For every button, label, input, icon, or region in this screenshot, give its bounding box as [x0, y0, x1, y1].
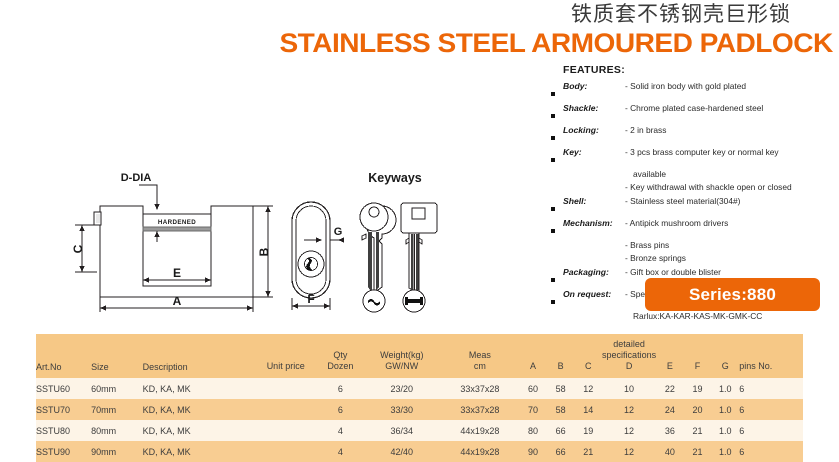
th-spec-g: G — [711, 334, 739, 378]
chinese-title: 铁质套不锈钢壳巨形锁 — [0, 2, 839, 26]
d-dia-label: D-DIA — [121, 172, 152, 184]
table-row: SSTU7070mmKD, KA, MK633/3033x37x28705814… — [36, 399, 803, 420]
square-bullet-icon — [551, 300, 555, 304]
feature-row: - Key withdrawal with shackle open or cl… — [538, 181, 838, 193]
feature-label: Shell: — [563, 195, 625, 207]
cell-d: 10 — [602, 378, 656, 399]
feature-bullet-cell — [538, 195, 563, 216]
g-label: G — [334, 226, 343, 238]
feature-value: available — [625, 168, 838, 180]
english-title: STAINLESS STEEL ARMOURED PADLOCK — [0, 28, 839, 58]
feature-bullet-cell — [538, 168, 563, 171]
cell-qty: 4 — [318, 441, 363, 462]
square-bullet-icon — [551, 278, 555, 282]
th-weight: Weight(kg) GW/NW — [363, 334, 440, 378]
cell-c: 21 — [574, 441, 602, 462]
feature-value: - Key withdrawal with shackle open or cl… — [625, 181, 838, 193]
cell-meas: 33x37x28 — [441, 378, 520, 399]
cell-g: 1.0 — [711, 399, 739, 420]
cell-a: 70 — [519, 399, 547, 420]
cell-b: 66 — [547, 441, 575, 462]
feature-row: Shell:- Stainless steel material(304#) — [538, 195, 838, 216]
feature-bullet-cell — [538, 217, 563, 238]
e-label: E — [173, 266, 181, 280]
technical-drawing: D-DIA HARDENED E A B C F G Keyways — [0, 160, 540, 315]
feature-label: Key: — [563, 146, 625, 158]
feature-value: - 2 in brass — [625, 124, 838, 136]
feature-value: - Chrome plated case-hardened steel — [625, 102, 838, 114]
feature-value: Rarlux:KA-KAR-KAS-MK-GMK-CC — [625, 310, 838, 322]
cell-g: 1.0 — [711, 441, 739, 462]
cell-a: 90 — [519, 441, 547, 462]
cell-pins: 6 — [739, 441, 803, 462]
feature-label: Packaging: — [563, 266, 625, 278]
th-weight-top: Weight(kg) — [363, 350, 440, 361]
keyways-label: Keyways — [368, 171, 422, 185]
feature-row: - Brass pins — [538, 239, 838, 251]
cell-meas: 33x37x28 — [441, 399, 520, 420]
cell-d: 12 — [602, 399, 656, 420]
cell-qty: 4 — [318, 420, 363, 441]
feature-row: Rarlux:KA-KAR-KAS-MK-GMK-CC — [538, 310, 838, 322]
feature-label: Locking: — [563, 124, 625, 136]
th-pins: pins No. — [739, 334, 803, 378]
feature-value: - Antipick mushroom drivers — [625, 217, 838, 229]
th-detailed-specs: detailed specifications — [602, 339, 656, 361]
feature-row: Key:- 3 pcs brass computer key or normal… — [538, 146, 838, 167]
cell-pins: 6 — [739, 420, 803, 441]
th-spec-c-label: C — [574, 361, 602, 372]
cell-art-no: SSTU90 — [36, 441, 91, 462]
feature-bullet-cell — [538, 146, 563, 167]
feature-row: Body:- Solid iron body with gold plated — [538, 80, 838, 101]
th-weight-bottom: GW/NW — [363, 361, 440, 372]
cell-art-no: SSTU80 — [36, 420, 91, 441]
c-label: C — [71, 244, 85, 253]
cell-size: 60mm — [91, 378, 142, 399]
cell-unit-price — [254, 441, 318, 462]
cell-b: 66 — [547, 420, 575, 441]
cell-f: 20 — [684, 399, 712, 420]
cell-g: 1.0 — [711, 420, 739, 441]
feature-bullet-cell — [538, 102, 563, 123]
specifications-table: Art.No Size Description Unit price Qty D… — [36, 334, 803, 462]
cell-c: 19 — [574, 420, 602, 441]
cell-description: KD, KA, MK — [143, 378, 254, 399]
square-bullet-icon — [551, 92, 555, 96]
feature-bullet-cell — [538, 310, 563, 313]
th-spec-a-label: A — [519, 361, 547, 372]
feature-label: Body: — [563, 80, 625, 92]
cell-unit-price — [254, 399, 318, 420]
square-bullet-icon — [551, 114, 555, 118]
cell-b: 58 — [547, 378, 575, 399]
b-label: B — [257, 247, 271, 256]
th-description: Description — [143, 334, 254, 378]
th-art-no: Art.No — [36, 334, 91, 378]
cell-e: 24 — [656, 399, 684, 420]
th-spec-f: F — [684, 334, 712, 378]
cell-weight: 23/20 — [363, 378, 440, 399]
table-header: Art.No Size Description Unit price Qty D… — [36, 334, 803, 378]
square-bullet-icon — [551, 229, 555, 233]
cell-f: 19 — [684, 378, 712, 399]
feature-bullet-cell — [538, 124, 563, 145]
th-spec-e-label: E — [656, 361, 684, 372]
cell-g: 1.0 — [711, 378, 739, 399]
th-meas-bottom: cm — [441, 361, 520, 372]
keyway-profile-normal — [363, 290, 385, 312]
feature-label: Shackle: — [563, 102, 625, 114]
cell-unit-price — [254, 378, 318, 399]
table-row: SSTU8080mmKD, KA, MK436/3444x19x28806619… — [36, 420, 803, 441]
th-qty-top: Qty — [318, 350, 363, 361]
feature-bullet-cell — [538, 288, 563, 309]
th-unit-price-top: Unit price — [254, 361, 318, 372]
cell-c: 12 — [574, 378, 602, 399]
square-bullet-icon — [551, 207, 555, 211]
table-row: SSTU9090mmKD, KA, MK442/4044x19x28906621… — [36, 441, 803, 462]
feature-value: - Solid iron body with gold plated — [625, 80, 838, 92]
normal-key-illustration — [360, 203, 396, 293]
cell-unit-price — [254, 420, 318, 441]
cell-weight: 36/34 — [363, 420, 440, 441]
f-label: F — [307, 292, 314, 306]
features-heading: FEATURES: — [563, 64, 838, 76]
cell-e: 40 — [656, 441, 684, 462]
feature-bullet-cell — [538, 239, 563, 242]
feature-row: Mechanism:- Antipick mushroom drivers — [538, 217, 838, 238]
cell-qty: 6 — [318, 378, 363, 399]
th-spec-c: C — [574, 334, 602, 378]
cell-e: 22 — [656, 378, 684, 399]
feature-value: - Gift box or double blister — [625, 266, 838, 278]
cell-description: KD, KA, MK — [143, 441, 254, 462]
cell-size: 80mm — [91, 420, 142, 441]
feature-value: - 3 pcs brass computer key or normal key — [625, 146, 838, 158]
table-body: SSTU6060mmKD, KA, MK623/2033x37x28605812… — [36, 378, 803, 462]
cell-a: 60 — [519, 378, 547, 399]
square-bullet-icon — [551, 158, 555, 162]
th-meas: Meas cm — [441, 334, 520, 378]
product-spec-sheet: 铁质套不锈钢壳巨形锁 STAINLESS STEEL ARMOURED PADL… — [0, 0, 839, 458]
cell-qty: 6 — [318, 399, 363, 420]
padlock-side-view — [292, 202, 330, 298]
keyway-profile-computer — [403, 290, 425, 312]
cell-description: KD, KA, MK — [143, 399, 254, 420]
feature-row: available — [538, 168, 838, 180]
cell-e: 36 — [656, 420, 684, 441]
th-spec-a: A — [519, 334, 547, 378]
th-spec-d: detailed specifications D — [602, 334, 656, 378]
cell-size: 70mm — [91, 399, 142, 420]
cell-art-no: SSTU70 — [36, 399, 91, 420]
feature-bullet-cell — [538, 266, 563, 287]
cell-d: 12 — [602, 420, 656, 441]
cell-b: 58 — [547, 399, 575, 420]
cell-weight: 33/30 — [363, 399, 440, 420]
feature-value: - Bronze springs — [625, 252, 838, 264]
cell-pins: 6 — [739, 378, 803, 399]
series-badge-label: Series:880 — [689, 285, 776, 305]
feature-bullet-cell — [538, 80, 563, 101]
th-spec-b-label: B — [547, 361, 575, 372]
th-spec-g-label: G — [711, 361, 739, 372]
cell-meas: 44x19x28 — [441, 441, 520, 462]
th-spec-d-label: D — [602, 361, 656, 372]
th-meas-top: Meas — [441, 350, 520, 361]
cell-c: 14 — [574, 399, 602, 420]
series-badge: Series:880 — [645, 278, 820, 311]
feature-label: On request: — [563, 288, 625, 300]
cell-meas: 44x19x28 — [441, 420, 520, 441]
th-pins-label: pins No. — [739, 361, 803, 372]
cell-pins: 6 — [739, 399, 803, 420]
table-row: SSTU6060mmKD, KA, MK623/2033x37x28605812… — [36, 378, 803, 399]
feature-value: - Brass pins — [625, 239, 838, 251]
cell-weight: 42/40 — [363, 441, 440, 462]
cell-size: 90mm — [91, 441, 142, 462]
square-bullet-icon — [551, 136, 555, 140]
th-spec-b: B — [547, 334, 575, 378]
a-label: A — [173, 294, 182, 308]
cell-description: KD, KA, MK — [143, 420, 254, 441]
cell-d: 12 — [602, 441, 656, 462]
th-size: Size — [91, 334, 142, 378]
computer-key-illustration — [401, 203, 437, 294]
cell-a: 80 — [519, 420, 547, 441]
feature-row: Locking:- 2 in brass — [538, 124, 838, 145]
feature-bullet-cell — [538, 181, 563, 184]
th-unit-price: Unit price — [254, 334, 318, 378]
feature-row: Shackle:- Chrome plated case-hardened st… — [538, 102, 838, 123]
cell-f: 21 — [684, 441, 712, 462]
th-spec-f-label: F — [684, 361, 712, 372]
th-qty-bottom: Dozen — [318, 361, 363, 372]
feature-bullet-cell — [538, 252, 563, 255]
th-spec-e: E — [656, 334, 684, 378]
th-qty: Qty Dozen — [318, 334, 363, 378]
cell-f: 21 — [684, 420, 712, 441]
cell-art-no: SSTU60 — [36, 378, 91, 399]
feature-row: - Bronze springs — [538, 252, 838, 264]
hardened-label: HARDENED — [158, 219, 196, 226]
feature-value: - Stainless steel material(304#) — [625, 195, 838, 207]
feature-label: Mechanism: — [563, 217, 625, 229]
